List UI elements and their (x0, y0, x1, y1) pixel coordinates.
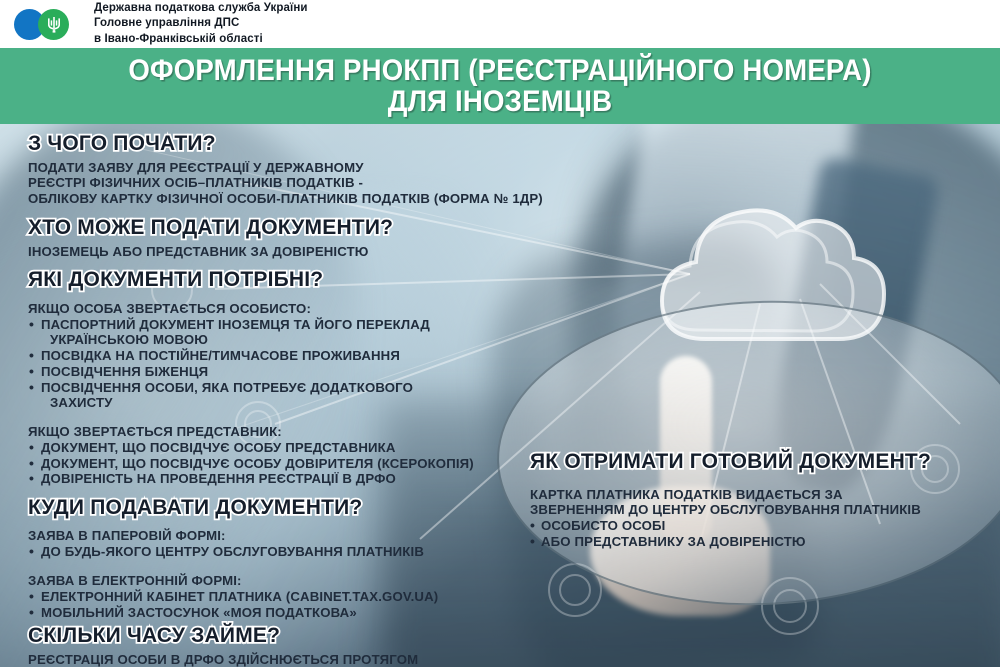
list-item: ПОСВІДЧЕННЯ БІЖЕНЦЯ (28, 364, 558, 380)
documents-personal-label: ЯКЩО ОСОБА ЗВЕРТАЄТЬСЯ ОСОБИСТО: (28, 301, 558, 317)
list-item-main: АБО ПРЕДСТАВНИКУ ЗА ДОВІРЕНІСТЮ (541, 534, 806, 549)
heading-where-to-submit: КУДИ ПОДАВАТИ ДОКУМЕНТИ? (28, 496, 558, 520)
list-item: ДОКУМЕНТ, ЩО ПОСВІДЧУЄ ОСОБУ ПРЕДСТАВНИК… (28, 440, 558, 456)
duration-line-1: РЕЄСТРАЦІЯ ОСОБИ В ДРФО ЗДІЙСНЮЄТЬСЯ ПРО… (28, 652, 558, 667)
list-item: ПАСПОРТНИЙ ДОКУМЕНТ ІНОЗЕМЦЯ ТА ЙОГО ПЕР… (28, 317, 558, 348)
list-item: ПОСВІДКА НА ПОСТІЙНЕ/ТИМЧАСОВЕ ПРОЖИВАНН… (28, 348, 558, 364)
list-item: ДО БУДЬ-ЯКОГО ЦЕНТРУ ОБСЛУГОВУВАННЯ ПЛАТ… (28, 544, 558, 560)
receive-list: ОСОБИСТО ОСОБІ АБО ПРЕДСТАВНИКУ ЗА ДОВІР… (530, 518, 990, 549)
where-electronic-list: ЕЛЕКТРОННИЙ КАБІНЕТ ПЛАТНИКА (CABINET.TA… (28, 589, 558, 620)
list-item-main: ПОСВІДКА НА ПОСТІЙНЕ/ТИМЧАСОВЕ ПРОЖИВАНН… (41, 348, 400, 363)
agency-logo (14, 6, 88, 42)
documents-representative-list: ДОКУМЕНТ, ЩО ПОСВІДЧУЄ ОСОБУ ПРЕДСТАВНИК… (28, 440, 558, 487)
list-item-main: ЕЛЕКТРОННИЙ КАБІНЕТ ПЛАТНИКА (CABINET.TA… (41, 589, 438, 604)
poster-title-line-1: ОФОРМЛЕННЯ РНОКПП (РЕЄСТРАЦІЙНОГО НОМЕРА… (128, 55, 871, 86)
documents-representative-label: ЯКЩО ЗВЕРТАЄТЬСЯ ПРЕДСТАВНИК: (28, 424, 558, 440)
heading-who-can-submit: ХТО МОЖЕ ПОДАТИ ДОКУМЕНТИ? (28, 216, 558, 240)
where-paper-list: ДО БУДЬ-ЯКОГО ЦЕНТРУ ОБСЛУГОВУВАННЯ ПЛАТ… (28, 544, 558, 560)
heading-where-to-start: З ЧОГО ПОЧАТИ? (28, 132, 558, 156)
agency-line-3: в Івано-Франківській області (94, 32, 308, 47)
list-item-main: ПОСВІДЧЕННЯ БІЖЕНЦЯ (41, 364, 208, 379)
list-item-main: ОСОБИСТО ОСОБІ (541, 518, 665, 533)
documents-personal-list: ПАСПОРТНИЙ ДОКУМЕНТ ІНОЗЕМЦЯ ТА ЙОГО ПЕР… (28, 317, 558, 411)
receive-line-1: КАРТКА ПЛАТНИКА ПОДАТКІВ ВИДАЄТЬСЯ ЗА (530, 487, 990, 503)
list-item-main: ДОКУМЕНТ, ЩО ПОСВІДЧУЄ ОСОБУ ПРЕДСТАВНИК… (41, 440, 396, 455)
list-item: ДОВІРЕНІСТЬ НА ПРОВЕДЕННЯ РЕЄСТРАЦІЇ В Д… (28, 471, 558, 487)
start-line-2: РЕЄСТРІ ФІЗИЧНИХ ОСІБ–ПЛАТНИКІВ ПОДАТКІВ… (28, 175, 558, 191)
list-item-main: ДОКУМЕНТ, ЩО ПОСВІДЧУЄ ОСОБУ ДОВІРИТЕЛЯ … (41, 456, 474, 471)
list-item: АБО ПРЕДСТАВНИКУ ЗА ДОВІРЕНІСТЮ (530, 534, 990, 550)
heading-how-to-receive: ЯК ОТРИМАТИ ГОТОВИЙ ДОКУМЕНТ? (530, 450, 990, 474)
where-paper-label: ЗАЯВА В ПАПЕРОВІЙ ФОРМІ: (28, 528, 558, 544)
heading-how-long: СКІЛЬКИ ЧАСУ ЗАЙМЕ? (28, 624, 558, 648)
list-item: ОСОБИСТО ОСОБІ (530, 518, 990, 534)
list-item: ЕЛЕКТРОННИЙ КАБІНЕТ ПЛАТНИКА (CABINET.TA… (28, 589, 558, 605)
green-trident-circle-icon (38, 9, 69, 40)
list-item: ДОКУМЕНТ, ЩО ПОСВІДЧУЄ ОСОБУ ДОВІРИТЕЛЯ … (28, 456, 558, 472)
left-column: З ЧОГО ПОЧАТИ? ПОДАТИ ЗАЯВУ ДЛЯ РЕЄСТРАЦ… (28, 132, 558, 667)
who-line-1: ІНОЗЕМЕЦЬ АБО ПРЕДСТАВНИК ЗА ДОВІРЕНІСТЮ (28, 244, 558, 260)
header-bar: Державна податкова служба України Головн… (0, 0, 1000, 48)
poster-title-line-2: ДЛЯ ІНОЗЕМЦІВ (388, 86, 612, 117)
agency-name-block: Державна податкова служба України Головн… (94, 1, 308, 47)
list-item: ПОСВІДЧЕННЯ ОСОБИ, ЯКА ПОТРЕБУЄ ДОДАТКОВ… (28, 380, 558, 411)
list-item: МОБІЛЬНИЙ ЗАСТОСУНОК «МОЯ ПОДАТКОВА» (28, 605, 558, 621)
heading-which-documents: ЯКІ ДОКУМЕНТИ ПОТРІБНІ? (28, 268, 558, 292)
infographic-poster: Державна податкова служба України Головн… (0, 0, 1000, 667)
where-electronic-label: ЗАЯВА В ЕЛЕКТРОННІЙ ФОРМІ: (28, 573, 558, 589)
start-line-3: ОБЛІКОВУ КАРТКУ ФІЗИЧНОЇ ОСОБИ-ПЛАТНИКІВ… (28, 191, 558, 207)
list-item-cont: ЗАХИСТУ (41, 395, 558, 411)
agency-line-2: Головне управління ДПС (94, 16, 308, 31)
title-banner: ОФОРМЛЕННЯ РНОКПП (РЕЄСТРАЦІЙНОГО НОМЕРА… (0, 48, 1000, 124)
list-item-main: ПАСПОРТНИЙ ДОКУМЕНТ ІНОЗЕМЦЯ ТА ЙОГО ПЕР… (41, 317, 430, 332)
list-item-main: ДО БУДЬ-ЯКОГО ЦЕНТРУ ОБСЛУГОВУВАННЯ ПЛАТ… (41, 544, 424, 559)
right-column: ЯК ОТРИМАТИ ГОТОВИЙ ДОКУМЕНТ? КАРТКА ПЛА… (530, 450, 990, 550)
agency-line-1: Державна податкова служба України (94, 1, 308, 16)
list-item-main: МОБІЛЬНИЙ ЗАСТОСУНОК «МОЯ ПОДАТКОВА» (41, 605, 357, 620)
start-line-1: ПОДАТИ ЗАЯВУ ДЛЯ РЕЄСТРАЦІЇ У ДЕРЖАВНОМУ (28, 160, 558, 176)
receive-line-2: ЗВЕРНЕННЯМ ДО ЦЕНТРУ ОБСЛУГОВУВАННЯ ПЛАТ… (530, 502, 990, 518)
list-item-cont: УКРАЇНСЬКОЮ МОВОЮ (41, 332, 558, 348)
list-item-main: ПОСВІДЧЕННЯ ОСОБИ, ЯКА ПОТРЕБУЄ ДОДАТКОВ… (41, 380, 413, 395)
list-item-main: ДОВІРЕНІСТЬ НА ПРОВЕДЕННЯ РЕЄСТРАЦІЇ В Д… (41, 471, 396, 486)
content-layer: З ЧОГО ПОЧАТИ? ПОДАТИ ЗАЯВУ ДЛЯ РЕЄСТРАЦ… (0, 124, 1000, 667)
